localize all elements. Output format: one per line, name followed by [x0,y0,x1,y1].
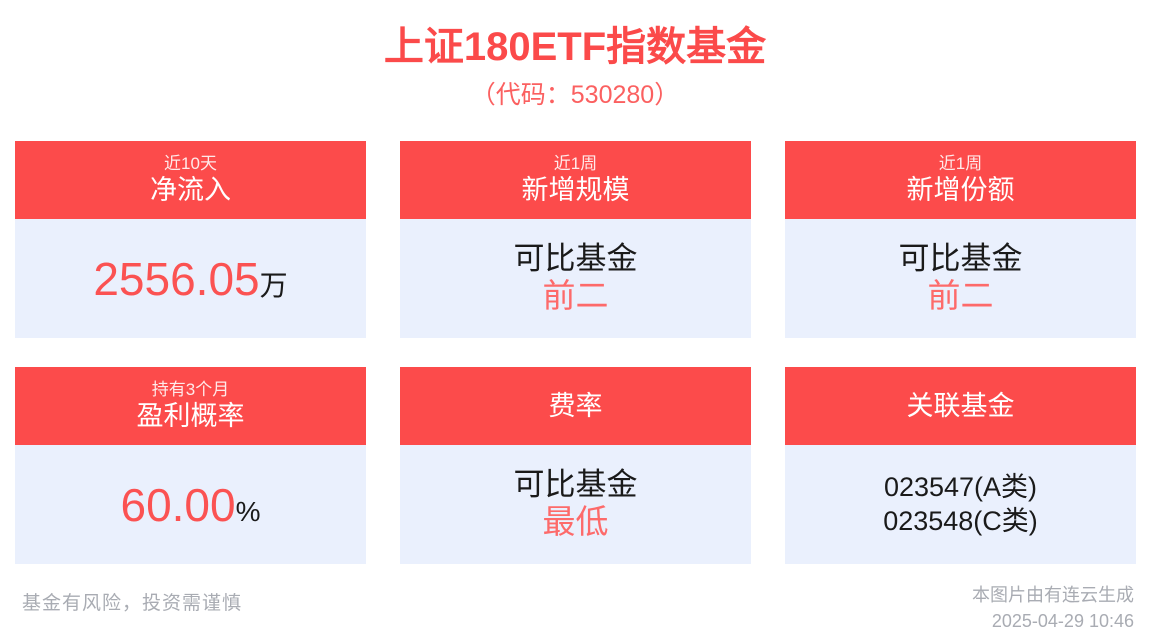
metric-caption: 可比基金 [514,241,638,278]
image-credit: 本图片由有连云生成 2025-04-29 10:46 [972,578,1134,634]
card-header-sub: 近1周 [939,153,982,174]
metric-value: 60.00 [120,482,235,528]
card-header-new-scale: 近1周 新增规模 [400,141,751,219]
risk-disclaimer: 基金有风险，投资需谨慎 [22,578,242,619]
metrics-card-grid: 近10天 净流入 2556.05 万 近1周 新增规模 可比基金 前二 近1周 … [15,141,1135,564]
card-header-main: 关联基金 [907,390,1015,423]
image-credit-timestamp: 2025-04-29 10:46 [972,608,1134,634]
metric-unit: % [236,498,261,526]
title-block: 上证180ETF指数基金 （代码：530280） [0,0,1150,115]
metric-card-new-shares[interactable]: 近1周 新增份额 可比基金 前二 [785,141,1136,338]
metric-card-new-scale[interactable]: 近1周 新增规模 可比基金 前二 [400,141,751,338]
metric-caption: 可比基金 [514,467,638,504]
card-header-main: 净流入 [150,174,231,207]
card-header-fee-rate: 费率 [400,367,751,445]
metric-card-profit-probability[interactable]: 持有3个月 盈利概率 60.00 % [15,367,366,564]
card-body-net-inflow: 2556.05 万 [15,219,366,338]
related-fund-code-a: 023547(A类) [884,471,1037,505]
metric-caption: 可比基金 [899,241,1023,278]
card-body-fee-rate: 可比基金 最低 [400,445,751,564]
card-header-sub: 近1周 [554,153,597,174]
card-body-profit-probability: 60.00 % [15,445,366,564]
card-body-new-scale: 可比基金 前二 [400,219,751,338]
card-header-main: 费率 [549,390,603,423]
card-header-main: 新增规模 [522,174,630,207]
card-header-main: 盈利概率 [137,400,245,433]
metric-rank: 前二 [543,277,609,316]
value-row: 2556.05 万 [93,256,287,302]
fund-code: （代码：530280） [0,77,1150,115]
card-header-sub: 持有3个月 [152,379,229,400]
related-fund-code-c: 023548(C类) [883,505,1038,539]
card-header-net-inflow: 近10天 净流入 [15,141,366,219]
card-header-new-shares: 近1周 新增份额 [785,141,1136,219]
card-body-new-shares: 可比基金 前二 [785,219,1136,338]
card-body-related-funds: 023547(A类) 023548(C类) [785,445,1136,564]
metric-rank: 最低 [543,503,609,542]
card-header-profit-probability: 持有3个月 盈利概率 [15,367,366,445]
metric-rank: 前二 [928,277,994,316]
image-credit-source: 本图片由有连云生成 [972,582,1134,608]
metric-card-net-inflow[interactable]: 近10天 净流入 2556.05 万 [15,141,366,338]
metric-card-fee-rate[interactable]: 费率 可比基金 最低 [400,367,751,564]
metric-unit: 万 [260,272,288,300]
card-header-main: 新增份额 [907,174,1015,207]
metric-value: 2556.05 [93,256,259,302]
card-header-related-funds: 关联基金 [785,367,1136,445]
footer: 基金有风险，投资需谨慎 本图片由有连云生成 2025-04-29 10:46 [0,578,1150,632]
value-row: 60.00 % [120,482,260,528]
metric-card-related-funds[interactable]: 关联基金 023547(A类) 023548(C类) [785,367,1136,564]
page-title: 上证180ETF指数基金 [0,24,1150,71]
card-header-sub: 近10天 [164,153,217,174]
